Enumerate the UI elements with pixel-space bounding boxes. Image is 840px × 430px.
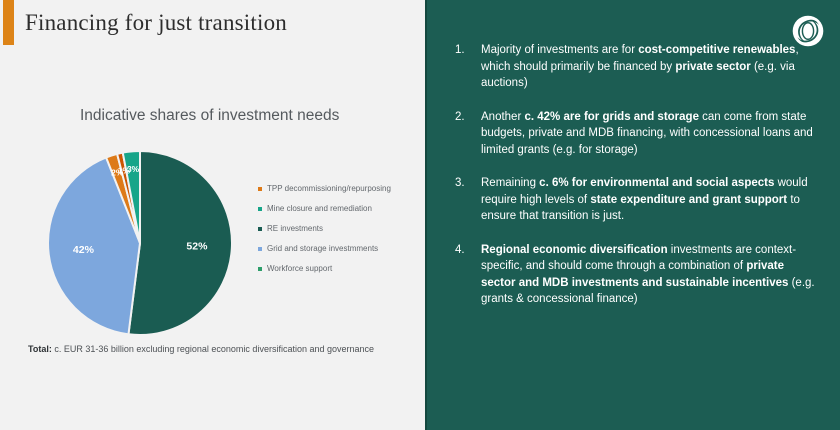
accent-bar <box>3 0 14 45</box>
legend-label: Grid and storage investmments <box>267 243 378 254</box>
insight-number: 1. <box>455 42 481 92</box>
total-value: c. EUR 31-36 billion excluding regional … <box>52 344 374 354</box>
legend-marker-icon <box>258 187 262 191</box>
legend-marker-icon <box>258 247 262 251</box>
insights-list: 1.Majority of investments are for cost-c… <box>455 42 815 325</box>
pie-chart: 52%42%2%1%3% <box>45 148 235 338</box>
legend-item: RE investments <box>258 223 418 234</box>
pie-slice <box>128 151 232 335</box>
legend-label: Workforce support <box>267 263 332 274</box>
legend-item: Mine closure and remediation <box>258 203 418 214</box>
insight-number: 4. <box>455 242 481 308</box>
legend-label: TPP decommissioning/repurposing <box>267 183 391 194</box>
legend-marker-icon <box>258 227 262 231</box>
insight-item: 4.Regional economic diversification inve… <box>455 242 815 308</box>
legend-item: Grid and storage investmments <box>258 243 418 254</box>
legend-item: Workforce support <box>258 263 418 274</box>
chart-title: Indicative shares of investment needs <box>80 107 339 125</box>
insight-number: 2. <box>455 109 481 159</box>
page-title: Financing for just transition <box>25 10 287 36</box>
insight-text: Regional economic diversification invest… <box>481 242 815 308</box>
chart-legend: TPP decommissioning/repurposingMine clos… <box>258 183 418 283</box>
chart-panel: Financing for just transition Indicative… <box>0 0 425 430</box>
insight-item: 2.Another c. 42% are for grids and stora… <box>455 109 815 159</box>
insight-text: Another c. 42% are for grids and storage… <box>481 109 815 159</box>
insights-panel: 1.Majority of investments are for cost-c… <box>425 0 840 430</box>
pie-slice-label: 42% <box>73 244 95 256</box>
legend-label: Mine closure and remediation <box>267 203 372 214</box>
pie-chart-svg: 52%42%2%1%3% <box>45 148 235 338</box>
legend-marker-icon <box>258 207 262 211</box>
chart-total-note: Total: c. EUR 31-36 billion excluding re… <box>28 344 374 354</box>
legend-marker-icon <box>258 267 262 271</box>
legend-item: TPP decommissioning/repurposing <box>258 183 418 194</box>
total-label: Total: <box>28 344 52 354</box>
insight-text: Majority of investments are for cost-com… <box>481 42 815 92</box>
insight-item: 3.Remaining c. 6% for environmental and … <box>455 175 815 225</box>
pie-slice-label: 52% <box>186 240 208 252</box>
insight-item: 1.Majority of investments are for cost-c… <box>455 42 815 92</box>
insight-text: Remaining c. 6% for environmental and so… <box>481 175 815 225</box>
legend-label: RE investments <box>267 223 323 234</box>
pie-slice-label: 3% <box>127 164 140 174</box>
insight-number: 3. <box>455 175 481 225</box>
slide-root: Financing for just transition Indicative… <box>0 0 840 430</box>
